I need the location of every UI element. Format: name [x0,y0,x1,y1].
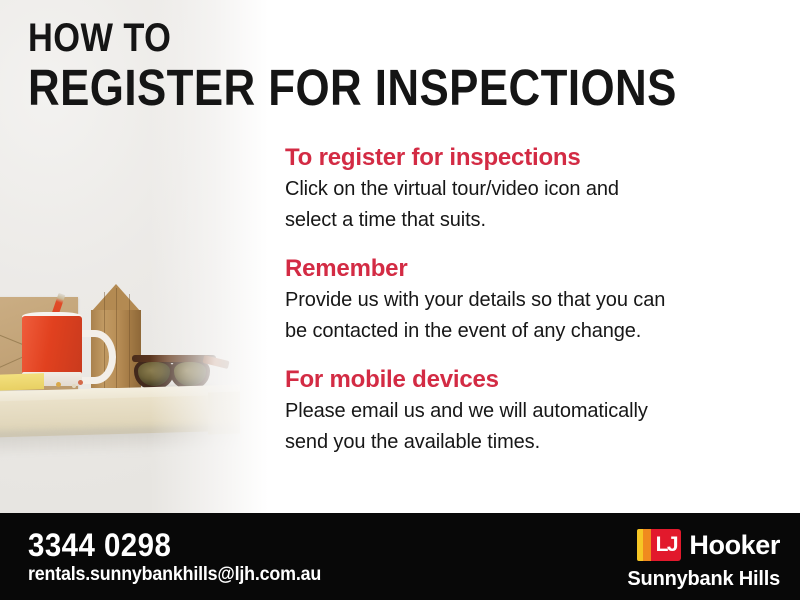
headline-line-2: REGISTER FOR INSPECTIONS [28,60,677,116]
poster: HOW TO REGISTER FOR INSPECTIONS To regis… [0,0,800,600]
email-address[interactable]: rentals.sunnybankhills@ljh.com.au [28,563,321,587]
logo-orange-stripe [643,529,651,561]
page-title: HOW TO REGISTER FOR INSPECTIONS [28,16,782,116]
yellow-sticky-note [0,373,44,391]
instructions-list: To register for inspections Click on the… [285,143,775,458]
logo-monogram: LJ [651,529,681,561]
logo-red-block: LJ [651,529,681,561]
phone-number[interactable]: 3344 0298 [28,527,315,563]
shelf-speck [56,382,61,387]
section-body-line: select a time that suits. [285,205,775,236]
shelf-speck [78,380,83,385]
wood-grain-line [116,288,117,388]
section-heading: For mobile devices [285,365,775,395]
section-body-line: Please email us and we will automaticall… [285,396,775,427]
section-mobile-devices: For mobile devices Please email us and w… [285,365,775,458]
section-heading: To register for inspections [285,143,775,173]
lj-hooker-logo-icon: LJ [637,529,681,561]
section-body-line: Provide us with your details so that you… [285,285,775,316]
brand-name: Hooker [689,530,780,560]
section-body-line: Click on the virtual tour/video icon and [285,174,775,205]
headline-line-1: HOW TO [28,16,677,60]
section-register: To register for inspections Click on the… [285,143,775,236]
section-heading: Remember [285,254,775,284]
red-mug [22,316,82,378]
section-remember: Remember Provide us with your details so… [285,254,775,347]
brand-office-name: Sunnybank Hills [627,567,780,591]
brand-logo-row: LJ Hooker [627,529,780,561]
shelf-speck [72,384,76,388]
footer-bar: 3344 0298 rentals.sunnybankhills@ljh.com… [0,513,800,600]
brand-block: LJ Hooker Sunnybank Hills [627,529,780,591]
contact-block: 3344 0298 rentals.sunnybankhills@ljh.com… [28,527,340,587]
section-body-line: be contacted in the event of any change. [285,316,775,347]
wood-grain-line [129,294,130,388]
section-body-line: send you the available times. [285,427,775,458]
